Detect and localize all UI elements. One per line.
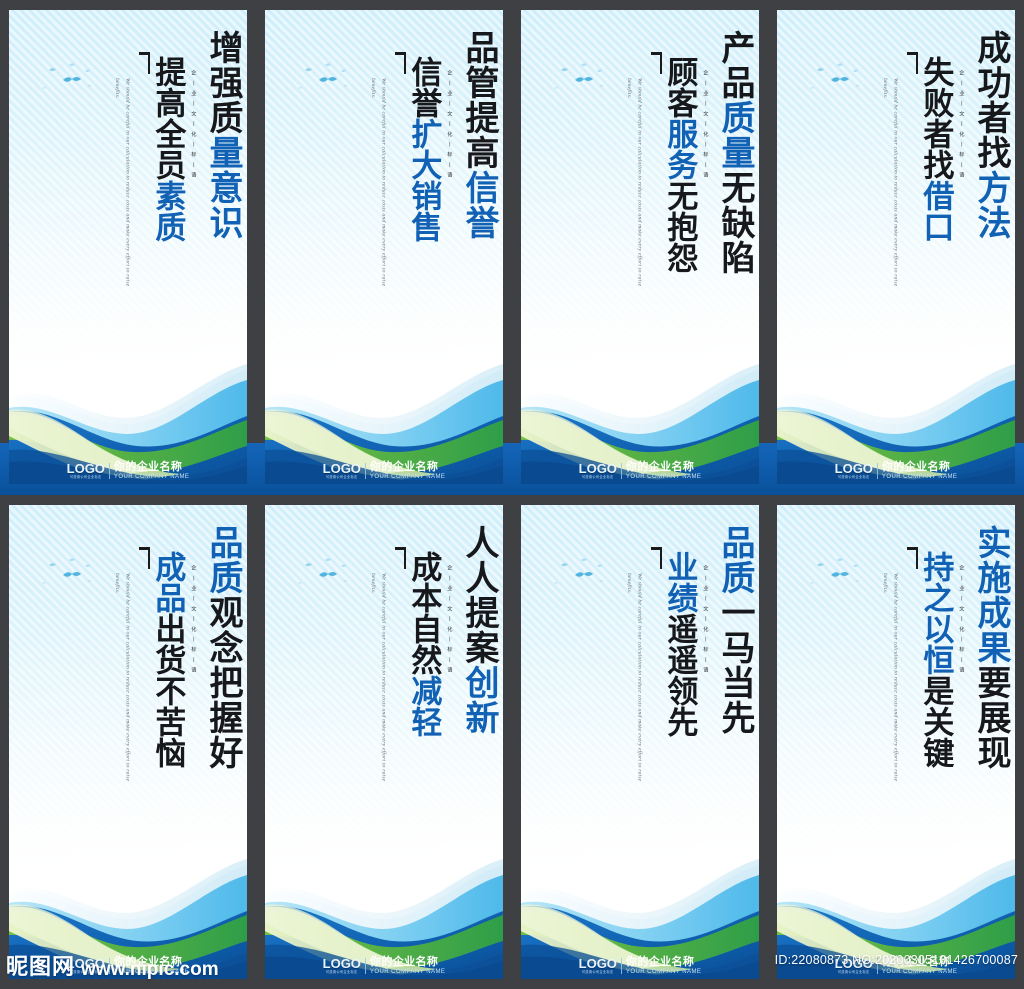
headline-secondary: 持之以恒是关键 — [919, 521, 951, 768]
company-name-block: 你的企业名称 YOUR COMPANY NAME — [626, 462, 701, 481]
headline-segment: 减轻 — [406, 675, 441, 737]
headline-segment: 要展现 — [972, 665, 1009, 770]
poster-footer: LOGO 可放置公司企业标志 你的企业名称 YOUR COMPANY NAME — [265, 458, 503, 484]
logo-block: LOGO 可放置公司企业标志 — [579, 957, 617, 974]
poster-footer: LOGO 可放置公司企业标志 你的企业名称 YOUR COMPANY NAME — [521, 458, 759, 484]
english-caption: We should be careful in our calculation … — [884, 573, 900, 788]
headline-primary: 品质一马当先 — [716, 521, 751, 735]
headline-segment: 顾客 — [662, 56, 697, 118]
logo-subtext: 可放置公司企业标志 — [838, 476, 870, 479]
open-bracket-icon — [138, 547, 150, 587]
logo-block: LOGO 可放置公司企业标志 — [579, 462, 617, 479]
headline-segment: 提高全员 — [150, 56, 185, 180]
poster-typography: 增强质量意识 企丨业丨文丨化丨标丨语 提高全员素质 We should be c… — [9, 10, 247, 484]
headline-segment: 品管提高 — [460, 30, 497, 170]
headline-secondary-group: 持之以恒是关键 — [906, 521, 951, 768]
english-caption: We should be careful in our calculation … — [372, 573, 388, 788]
headline-segment: 量意识 — [204, 135, 241, 240]
logo-subtext: 可放置公司企业标志 — [582, 476, 614, 479]
headline-segment: 人人提案 — [460, 525, 497, 665]
poster-row-bottom: 品质观念把握好 企丨业丨文丨化丨标丨语 成品出货不苦恼 We should be… — [0, 495, 1024, 989]
logo-text: LOGO — [67, 462, 105, 475]
company-name-en: YOUR COMPANY NAME — [626, 474, 701, 480]
panel-5[interactable]: 品质观念把握好 企丨业丨文丨化丨标丨语 成品出货不苦恼 We should be… — [0, 495, 256, 989]
logo-text: LOGO — [835, 462, 873, 475]
poster-typography: 人人提案创新 企丨业丨文丨化丨标丨语 成本自然减轻 We should be c… — [265, 505, 503, 979]
headline-secondary-group: 失败者找借口 — [906, 26, 951, 242]
headline-segment: 扩大销售 — [406, 118, 441, 242]
nipic-cn-label: 昵图网 — [6, 949, 75, 981]
headline-segment: 借口 — [918, 180, 953, 242]
panel-4[interactable]: 成功者找方法 企丨业丨文丨化丨标丨语 失败者找借口 We should be c… — [768, 0, 1024, 494]
footer-divider — [109, 463, 110, 479]
company-name-cn: 你的企业名称 — [370, 957, 445, 969]
logo-block: LOGO 可放置公司企业标志 — [323, 462, 361, 479]
headline-segment: 方法 — [972, 170, 1009, 240]
poster-footer: LOGO 可放置公司企业标志 你的企业名称 YOUR COMPANY NAME — [9, 458, 247, 484]
company-name-block: 你的企业名称 YOUR COMPANY NAME — [114, 462, 189, 481]
footer-divider — [621, 958, 622, 974]
logo-text: LOGO — [579, 957, 617, 970]
panel-6[interactable]: 人人提案创新 企丨业丨文丨化丨标丨语 成本自然减轻 We should be c… — [256, 495, 512, 989]
logo-subtext: 可放置公司企业标志 — [838, 971, 870, 974]
logo-subtext: 可放置公司企业标志 — [582, 971, 614, 974]
headline-segment: 增强质 — [204, 30, 241, 135]
poster-typography: 实施成果要展现 企丨业丨文丨化丨标丨语 持之以恒是关键 We should be… — [777, 505, 1015, 979]
poster-footer: LOGO 可放置公司企业标志 你的企业名称 YOUR COMPANY NAME — [265, 953, 503, 979]
poster-typography: 品管提高信誉 企丨业丨文丨化丨标丨语 信誉扩大销售 We should be c… — [265, 10, 503, 484]
footer-divider — [365, 958, 366, 974]
panel-3[interactable]: 产品质量无缺陷 企丨业丨文丨化丨标丨语 顾客服务无抱怨 We should be… — [512, 0, 768, 494]
headline-segment: 品质 — [716, 525, 753, 595]
panel-2[interactable]: 品管提高信誉 企丨业丨文丨化丨标丨语 信誉扩大销售 We should be c… — [256, 0, 512, 494]
headline-primary: 产品质量无缺陷 — [716, 26, 751, 275]
footer-divider — [621, 463, 622, 479]
headline-secondary: 提高全员素质 — [151, 26, 183, 242]
asset-id-watermark: ID:22080873 NO:20200305101426700087 — [775, 953, 1018, 967]
english-caption: We should be careful in our calculation … — [628, 573, 644, 788]
headline-segment: 失败者找 — [918, 56, 953, 180]
panel-8[interactable]: 实施成果要展现 企丨业丨文丨化丨标丨语 持之以恒是关键 We should be… — [768, 495, 1024, 989]
headline-segment: 信誉 — [460, 170, 497, 240]
logo-subtext: 可放置公司企业标志 — [70, 476, 102, 479]
headline-segment: 质量 — [716, 100, 753, 170]
company-name-cn: 你的企业名称 — [626, 462, 701, 474]
poster-canvas: 成功者找方法 企丨业丨文丨化丨标丨语 失败者找借口 We should be c… — [777, 10, 1015, 484]
culture-label: 企丨业丨文丨化丨标丨语 — [958, 70, 965, 182]
open-bracket-icon — [394, 52, 406, 92]
headline-segment: 成品 — [150, 551, 185, 613]
headline-segment: 服务 — [662, 118, 697, 180]
open-bracket-icon — [906, 52, 918, 92]
headline-segment: 遥遥领先 — [662, 613, 697, 737]
culture-label: 企丨业丨文丨化丨标丨语 — [702, 70, 709, 182]
nipic-watermark: 昵图网 www.nipic.com — [6, 949, 219, 981]
culture-label: 企丨业丨文丨化丨标丨语 — [446, 70, 453, 182]
headline-segment: 持之以恒 — [918, 551, 953, 675]
headline-segment: 观念把握好 — [204, 595, 241, 770]
company-name-cn: 你的企业名称 — [882, 462, 957, 474]
headline-primary: 成功者找方法 — [972, 26, 1007, 240]
headline-segment: 成本自然 — [406, 551, 441, 675]
headline-segment: 信誉 — [406, 56, 441, 118]
company-name-en: YOUR COMPANY NAME — [882, 969, 957, 975]
headline-secondary: 顾客服务无抱怨 — [663, 26, 695, 273]
footer-divider — [877, 463, 878, 479]
open-bracket-icon — [650, 547, 662, 587]
headline-secondary: 成本自然减轻 — [407, 521, 439, 737]
panel-1[interactable]: 增强质量意识 企丨业丨文丨化丨标丨语 提高全员素质 We should be c… — [0, 0, 256, 494]
poster-canvas: 品质观念把握好 企丨业丨文丨化丨标丨语 成品出货不苦恼 We should be… — [9, 505, 247, 979]
headline-segment: 业绩 — [662, 551, 697, 613]
headline-secondary-group: 成品出货不苦恼 — [138, 521, 183, 768]
headline-primary: 实施成果要展现 — [972, 521, 1007, 770]
english-caption: We should be careful in our calculation … — [884, 78, 900, 293]
nipic-url-label: www.nipic.com — [81, 959, 219, 981]
headline-secondary-group: 顾客服务无抱怨 — [650, 26, 695, 273]
headline-secondary-group: 提高全员素质 — [138, 26, 183, 242]
headline-secondary: 失败者找借口 — [919, 26, 951, 242]
company-name-en: YOUR COMPANY NAME — [370, 474, 445, 480]
logo-subtext: 可放置公司企业标志 — [326, 476, 358, 479]
english-caption: We should be careful in our calculation … — [628, 78, 644, 293]
company-name-block: 你的企业名称 YOUR COMPANY NAME — [882, 462, 957, 481]
headline-segment: 是关键 — [918, 675, 953, 768]
company-name-cn: 你的企业名称 — [626, 957, 701, 969]
company-name-cn: 你的企业名称 — [370, 462, 445, 474]
culture-label: 企丨业丨文丨化丨标丨语 — [446, 565, 453, 677]
company-name-en: YOUR COMPANY NAME — [882, 474, 957, 480]
poster-row-top: 增强质量意识 企丨业丨文丨化丨标丨语 提高全员素质 We should be c… — [0, 0, 1024, 494]
company-name-cn: 你的企业名称 — [114, 462, 189, 474]
headline-segment: 创新 — [460, 665, 497, 735]
poster-canvas: 品管提高信誉 企丨业丨文丨化丨标丨语 信誉扩大销售 We should be c… — [265, 10, 503, 484]
logo-text: LOGO — [323, 462, 361, 475]
english-caption: We should be careful in our calculation … — [116, 78, 132, 293]
headline-secondary-group: 信誉扩大销售 — [394, 26, 439, 242]
open-bracket-icon — [138, 52, 150, 92]
poster-canvas: 实施成果要展现 企丨业丨文丨化丨标丨语 持之以恒是关键 We should be… — [777, 505, 1015, 979]
headline-segment: 无缺陷 — [716, 170, 753, 275]
headline-primary: 增强质量意识 — [204, 26, 239, 240]
poster-canvas: 产品质量无缺陷 企丨业丨文丨化丨标丨语 顾客服务无抱怨 We should be… — [521, 10, 759, 484]
headline-segment: 产品 — [716, 30, 753, 100]
company-name-en: YOUR COMPANY NAME — [114, 474, 189, 480]
headline-secondary: 成品出货不苦恼 — [151, 521, 183, 768]
poster-typography: 品质一马当先 企丨业丨文丨化丨标丨语 业绩遥遥领先 We should be c… — [521, 505, 759, 979]
open-bracket-icon — [394, 547, 406, 587]
panel-7[interactable]: 品质一马当先 企丨业丨文丨化丨标丨语 业绩遥遥领先 We should be c… — [512, 495, 768, 989]
headline-secondary: 信誉扩大销售 — [407, 26, 439, 242]
poster-typography: 成功者找方法 企丨业丨文丨化丨标丨语 失败者找借口 We should be c… — [777, 10, 1015, 484]
poster-footer: LOGO 可放置公司企业标志 你的企业名称 YOUR COMPANY NAME — [777, 458, 1015, 484]
headline-primary: 人人提案创新 — [460, 521, 495, 735]
poster-typography: 品质观念把握好 企丨业丨文丨化丨标丨语 成品出货不苦恼 We should be… — [9, 505, 247, 979]
poster-sheet: 增强质量意识 企丨业丨文丨化丨标丨语 提高全员素质 We should be c… — [0, 0, 1024, 989]
headline-segment: 品质 — [204, 525, 241, 595]
headline-segment: 素质 — [150, 180, 185, 242]
logo-text: LOGO — [579, 462, 617, 475]
culture-label: 企丨业丨文丨化丨标丨语 — [958, 565, 965, 677]
poster-canvas: 品质一马当先 企丨业丨文丨化丨标丨语 业绩遥遥领先 We should be c… — [521, 505, 759, 979]
poster-canvas: 增强质量意识 企丨业丨文丨化丨标丨语 提高全员素质 We should be c… — [9, 10, 247, 484]
poster-canvas: 人人提案创新 企丨业丨文丨化丨标丨语 成本自然减轻 We should be c… — [265, 505, 503, 979]
headline-segment: 出货不苦恼 — [150, 613, 185, 768]
culture-label: 企丨业丨文丨化丨标丨语 — [190, 70, 197, 182]
open-bracket-icon — [650, 52, 662, 92]
headline-primary: 品质观念把握好 — [204, 521, 239, 770]
english-caption: We should be careful in our calculation … — [116, 573, 132, 788]
logo-block: LOGO 可放置公司企业标志 — [835, 462, 873, 479]
logo-block: LOGO 可放置公司企业标志 — [67, 462, 105, 479]
company-name-en: YOUR COMPANY NAME — [370, 969, 445, 975]
headline-primary: 品管提高信誉 — [460, 26, 495, 240]
headline-segment: 实施成果 — [972, 525, 1009, 665]
culture-label: 企丨业丨文丨化丨标丨语 — [702, 565, 709, 677]
headline-segment: 无抱怨 — [662, 180, 697, 273]
logo-subtext: 可放置公司企业标志 — [326, 971, 358, 974]
open-bracket-icon — [906, 547, 918, 587]
poster-footer: LOGO 可放置公司企业标志 你的企业名称 YOUR COMPANY NAME — [521, 953, 759, 979]
culture-label: 企丨业丨文丨化丨标丨语 — [190, 565, 197, 677]
company-name-block: 你的企业名称 YOUR COMPANY NAME — [370, 462, 445, 481]
footer-divider — [365, 463, 366, 479]
headline-segment: 成功者找 — [972, 30, 1009, 170]
headline-secondary-group: 业绩遥遥领先 — [650, 521, 695, 737]
headline-secondary-group: 成本自然减轻 — [394, 521, 439, 737]
headline-segment: 一马当先 — [716, 595, 753, 735]
logo-text: LOGO — [323, 957, 361, 970]
poster-typography: 产品质量无缺陷 企丨业丨文丨化丨标丨语 顾客服务无抱怨 We should be… — [521, 10, 759, 484]
company-name-block: 你的企业名称 YOUR COMPANY NAME — [626, 957, 701, 976]
company-name-en: YOUR COMPANY NAME — [626, 969, 701, 975]
headline-secondary: 业绩遥遥领先 — [663, 521, 695, 737]
logo-block: LOGO 可放置公司企业标志 — [323, 957, 361, 974]
company-name-block: 你的企业名称 YOUR COMPANY NAME — [370, 957, 445, 976]
english-caption: We should be careful in our calculation … — [372, 78, 388, 293]
